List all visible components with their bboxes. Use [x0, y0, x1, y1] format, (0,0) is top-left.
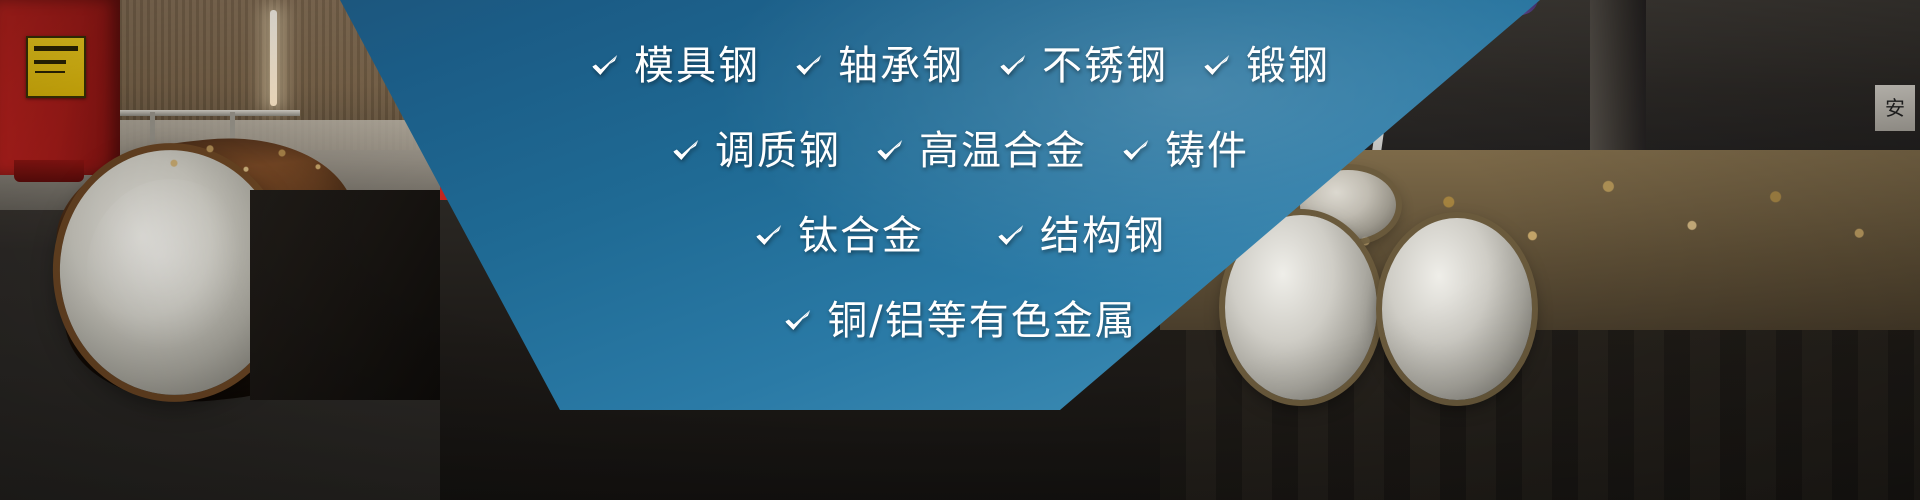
check-mark-icon: [794, 51, 824, 81]
check-mark-icon: [671, 136, 701, 166]
category-item-titanium-alloy[interactable]: 钛合金: [754, 216, 924, 256]
category-item-structural-steel[interactable]: 结构钢: [996, 216, 1166, 256]
category-item-stainless-steel[interactable]: 不锈钢: [998, 46, 1168, 86]
category-row-4: 铜/铝等有色金属: [0, 301, 1920, 341]
check-mark-icon: [1121, 136, 1151, 166]
category-item-mould-steel[interactable]: 模具钢: [590, 46, 760, 86]
category-label: 钛合金: [798, 216, 924, 256]
category-item-quenched-tempered-steel[interactable]: 调质钢: [671, 131, 841, 171]
check-mark-icon: [590, 51, 620, 81]
industrial-materials-banner: 安 模具钢 轴承钢 不锈钢: [0, 0, 1920, 500]
category-label: 高温合金: [919, 131, 1087, 171]
check-mark-icon: [783, 306, 813, 336]
category-label: 模具钢: [634, 46, 760, 86]
category-label: 结构钢: [1040, 216, 1166, 256]
category-item-superalloy[interactable]: 高温合金: [875, 131, 1087, 171]
check-mark-icon: [996, 221, 1026, 251]
category-item-forged-steel[interactable]: 锻钢: [1202, 46, 1330, 86]
category-label: 轴承钢: [838, 46, 964, 86]
check-mark-icon: [1202, 51, 1232, 81]
category-item-bearing-steel[interactable]: 轴承钢: [794, 46, 964, 86]
category-row-3: 钛合金 结构钢: [0, 216, 1920, 256]
category-row-1: 模具钢 轴承钢 不锈钢 锻钢: [0, 46, 1920, 86]
check-mark-icon: [754, 221, 784, 251]
check-mark-icon: [875, 136, 905, 166]
check-mark-icon: [998, 51, 1028, 81]
category-item-nonferrous-metals[interactable]: 铜/铝等有色金属: [783, 301, 1136, 341]
category-label: 不锈钢: [1042, 46, 1168, 86]
product-category-list: 模具钢 轴承钢 不锈钢 锻钢: [0, 0, 1920, 500]
category-item-castings[interactable]: 铸件: [1121, 131, 1249, 171]
category-row-2: 调质钢 高温合金 铸件: [0, 131, 1920, 171]
category-label: 铜/铝等有色金属: [827, 301, 1136, 341]
category-label: 锻钢: [1246, 46, 1330, 86]
category-label: 调质钢: [715, 131, 841, 171]
category-label: 铸件: [1165, 131, 1249, 171]
